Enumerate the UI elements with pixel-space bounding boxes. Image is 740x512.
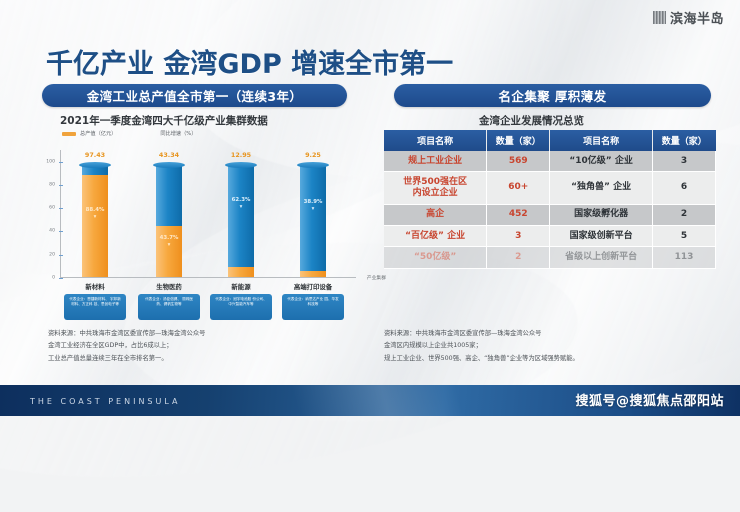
table-cell-name-r: “独角兽” 企业 [550,172,653,205]
table-cell-name-l: 高企 [384,204,487,225]
banner-left: 金湾工业总产值全市第一（连续3年） [42,84,347,107]
bar-category-label: 高端打印设备 [294,282,332,291]
table-column-header: 数量（家） [652,130,715,151]
y-axis-tick [59,278,63,279]
table-cell-num-r: 3 [652,151,715,172]
stacked-bar: 88.4%▾ [82,165,108,277]
bar-segment-output [156,226,182,277]
footnote-left: 资料来源：中共珠海市金湾区委宣传部—珠海金湾公众号 金湾工业经济在全区GDP中，… [48,328,205,365]
table-head: 项目名称数量（家）项目名称数量（家） [384,130,716,151]
legend-label-output: 总产值（亿元） [80,130,116,137]
table-cell-num-r: 113 [652,247,715,268]
bar-category-note: 代表企业：恩捷新材料、 宇邦新材料、方正科 技、思创电子等 [64,294,126,320]
legend-swatch-orange-icon [62,132,76,136]
bar-segment-output [300,271,326,277]
y-axis-tick-label: 100 [46,159,55,164]
table-cell-num-l: 2 [487,247,550,268]
table-column-header: 数量（家） [487,130,550,151]
table-cell-num-l: 60+ [487,172,550,205]
table-row: “50亿级”2省级以上创新平台113 [384,247,716,268]
table-cell-name-l: 规上工业企业 [384,151,487,172]
bar-inner-label: 62.3%▾ [232,197,251,211]
y-axis-tick [59,185,63,186]
bar-inner-label: 38.9%▾ [304,199,323,213]
y-axis-tick [59,255,63,256]
chart-legend: 总产值（亿元） 同比增速（%） [62,130,196,137]
legend-label-growth: 同比增速（%） [160,130,196,137]
bar-category-label: 新能源 [231,282,250,291]
table-row: 高企452国家级孵化器2 [384,204,716,225]
table-cell-num-l: 452 [487,204,550,225]
brand-logo: 滨海半岛 [653,8,724,27]
brand-mark-icon [653,11,666,24]
y-axis-tick [59,162,63,163]
chart-plot-area: 产业集群 020406080100 97.4388.4%▾新材料代表企业：恩捷新… [60,150,356,278]
bar-category-label: 新材料 [85,282,104,291]
bottom-bar: THE COAST PENINSULA 搜狐号@搜狐焦点邵阳站 [0,385,740,416]
y-axis-tick [59,231,63,232]
table-header-row: 项目名称数量（家）项目名称数量（家） [384,130,716,151]
table-cell-name-r: “10亿级” 企业 [550,151,653,172]
bar-inner-label: 43.7%▾ [160,235,179,249]
x-axis-title: 产业集群 [367,274,386,281]
table-cell-name-l: “50亿级” [384,247,487,268]
bar-value-label: 12.95 [231,151,251,159]
y-axis-tick-label: 60 [49,206,55,211]
brand-tagline: THE COAST PENINSULA [30,397,180,406]
table-column-header: 项目名称 [384,130,487,151]
page-title: 千亿产业 金湾GDP 增速全市第一 [46,42,453,81]
table-cell-num-r: 6 [652,172,715,205]
bar-category-note: 代表企业：冠宇电池股 份公司、中兴智能汽车等 [210,294,272,320]
legend-item-growth: 同比增速（%） [160,130,196,137]
table-cell-num-l: 569 [487,151,550,172]
bar-value-label: 97.43 [85,151,105,159]
enterprise-table-element: 项目名称数量（家）项目名称数量（家） 规上工业企业569“10亿级” 企业3世界… [384,130,716,269]
slide-canvas: 滨海半岛 千亿产业 金湾GDP 增速全市第一 金湾工业总产值全市第一（连续3年）… [0,0,740,416]
brand-logo-text: 滨海半岛 [670,8,724,27]
chart-x-axis [60,277,356,278]
banner-right: 名企集聚 厚积薄发 [394,84,711,107]
table-cell-num-l: 3 [487,226,550,247]
bar-segment-output [228,267,254,277]
bar-value-label: 9.25 [305,151,321,159]
bar-category-label: 生物医药 [156,282,182,291]
table-cell-name-l: 世界500强在区 内设立企业 [384,172,487,205]
table-column-header: 项目名称 [550,130,653,151]
bar-inner-label: 88.4%▾ [86,207,105,221]
table-cell-name-r: 国家级创新平台 [550,226,653,247]
table-row: “百亿级” 企业3国家级创新平台5 [384,226,716,247]
table-cell-num-r: 2 [652,204,715,225]
stacked-bar: 38.9%▾ [300,165,326,277]
bar-segment-output [82,175,108,277]
table-cell-name-l: “百亿级” 企业 [384,226,487,247]
enterprise-table: 项目名称数量（家）项目名称数量（家） 规上工业企业569“10亿级” 企业3世界… [384,130,716,269]
table-cell-name-r: 省级以上创新平台 [550,247,653,268]
bar-value-label: 43.34 [159,151,179,159]
stacked-bar: 62.3%▾ [228,165,254,277]
source-watermark: 搜狐号@搜狐焦点邵阳站 [575,390,724,409]
y-axis-tick-label: 0 [52,276,55,281]
table-row: 世界500强在区 内设立企业60+“独角兽” 企业6 [384,172,716,205]
y-axis-tick-label: 20 [49,252,55,257]
footnote-right: 资料来源：中共珠海市金湾区委宣传部—珠海金湾公众号 金湾区内规模以上企业共100… [384,328,579,365]
table-body: 规上工业企业569“10亿级” 企业3世界500强在区 内设立企业60+“独角兽… [384,151,716,268]
bar-category-note: 代表企业：汤臣倍健、 丽珠医药、健帆生物等 [138,294,200,320]
y-axis-tick [59,208,63,209]
industry-bar-chart: 总产值（亿元） 同比增速（%） 产业集群 020406080100 97.438… [36,128,366,318]
table-caption: 金湾企业发展情况总览 [479,113,584,128]
legend-item-output: 总产值（亿元） [62,130,116,137]
y-axis-tick-label: 40 [49,229,55,234]
chart-caption: 2021年一季度金湾四大千亿级产业集群数据 [60,113,268,128]
table-cell-num-r: 5 [652,226,715,247]
stacked-bar: 43.7%▾ [156,165,182,277]
bar-segment-growth [156,165,182,226]
bar-segment-growth [228,165,254,266]
bar-category-note: 代表企业：纳思达产业 园、华发科技等 [282,294,344,320]
chart-y-axis [60,150,61,278]
bar-segment-growth [300,165,326,271]
table-row: 规上工业企业569“10亿级” 企业3 [384,151,716,172]
table-cell-name-r: 国家级孵化器 [550,204,653,225]
y-axis-tick-label: 80 [49,182,55,187]
